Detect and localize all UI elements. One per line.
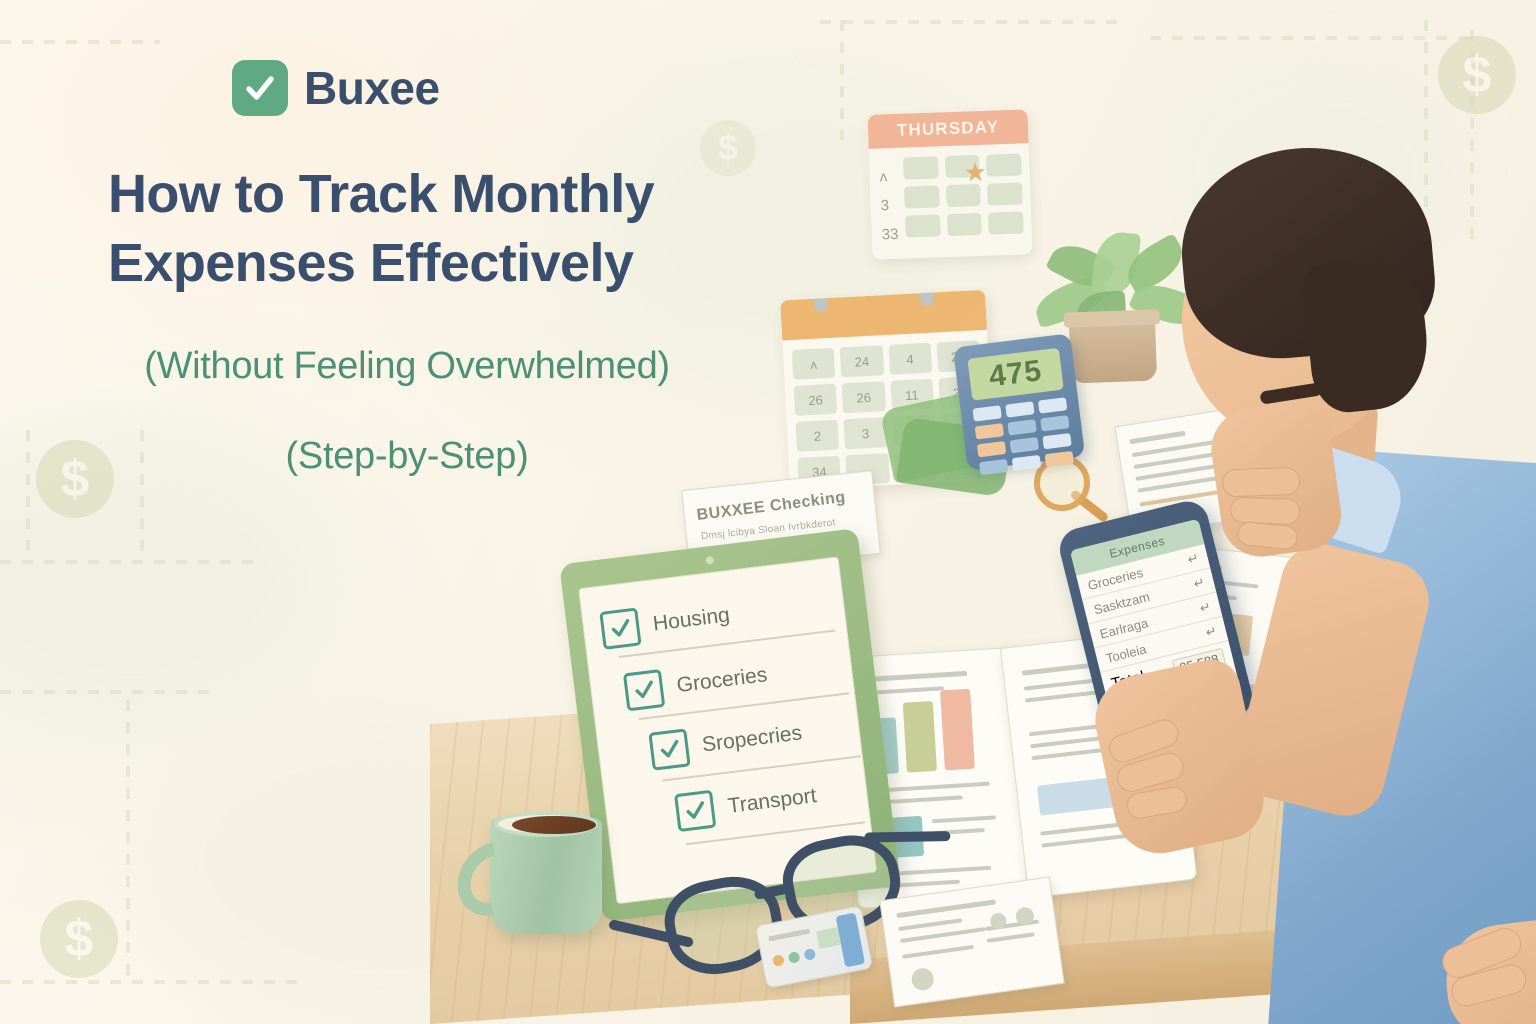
person-hand-on-chin [1206, 398, 1345, 561]
checklist-item[interactable]: Transport [674, 777, 819, 832]
checkbox-icon[interactable] [599, 607, 641, 649]
dotted-divider [0, 40, 160, 44]
dotted-divider [0, 560, 260, 564]
calendar-thursday-header: THURSDAY [868, 109, 1029, 149]
page-title-line-1: How to Track Monthly [108, 160, 748, 229]
page-title: How to Track Monthly Expenses Effectivel… [108, 160, 748, 298]
person-illustration [1120, 120, 1536, 1024]
check-mark-icon [232, 60, 288, 116]
dotted-divider [126, 700, 130, 980]
checkbox-icon[interactable] [623, 669, 665, 711]
brand-logo[interactable]: Buxee [232, 60, 440, 116]
brand-name: Buxee [304, 61, 440, 115]
checklist-item-label: Transport [726, 784, 817, 819]
calculator-keypad [972, 397, 1073, 475]
dollar-watermark-icon: $ [40, 900, 118, 978]
subtitle-line-2: (Step-by-Step) [62, 435, 752, 478]
person-eyebrow [1259, 382, 1322, 405]
dotted-divider [0, 690, 210, 694]
checkbox-icon[interactable] [674, 790, 716, 832]
checklist-item-label: Housing [652, 603, 731, 636]
checkbox-icon[interactable] [648, 728, 690, 770]
calculator: 475 [953, 333, 1085, 470]
illustration-scene: THURSDAY ʌ 3 33 ★ ʌ [430, 0, 1536, 1024]
mug-rim [494, 811, 598, 837]
checklist-item[interactable]: Sropecries [648, 714, 804, 770]
checklist-item[interactable]: Housing [599, 596, 732, 649]
dotted-divider [26, 430, 30, 550]
calendar-thursday-rows: ʌ 3 33 [879, 162, 899, 250]
calculator-display: 475 [967, 348, 1063, 401]
star-icon: ★ [963, 157, 987, 189]
subtitle-line-1: (Without Feeling Overwhelmed) [62, 345, 752, 388]
calendar-thursday: THURSDAY ʌ 3 33 ★ [868, 109, 1033, 259]
camera-dot-icon [705, 556, 714, 565]
checklist-item[interactable]: Groceries [623, 656, 770, 711]
page-title-line-2: Expenses Effectively [108, 229, 748, 298]
checklist-item-label: Groceries [675, 663, 768, 698]
coffee-mug [490, 818, 602, 934]
dotted-divider [0, 980, 300, 984]
coffee-liquid [512, 816, 596, 834]
hero-banner: $ $ $ $ THURSDAY ʌ 3 33 ★ [0, 0, 1536, 1024]
checklist-item-label: Sropecries [701, 721, 804, 757]
